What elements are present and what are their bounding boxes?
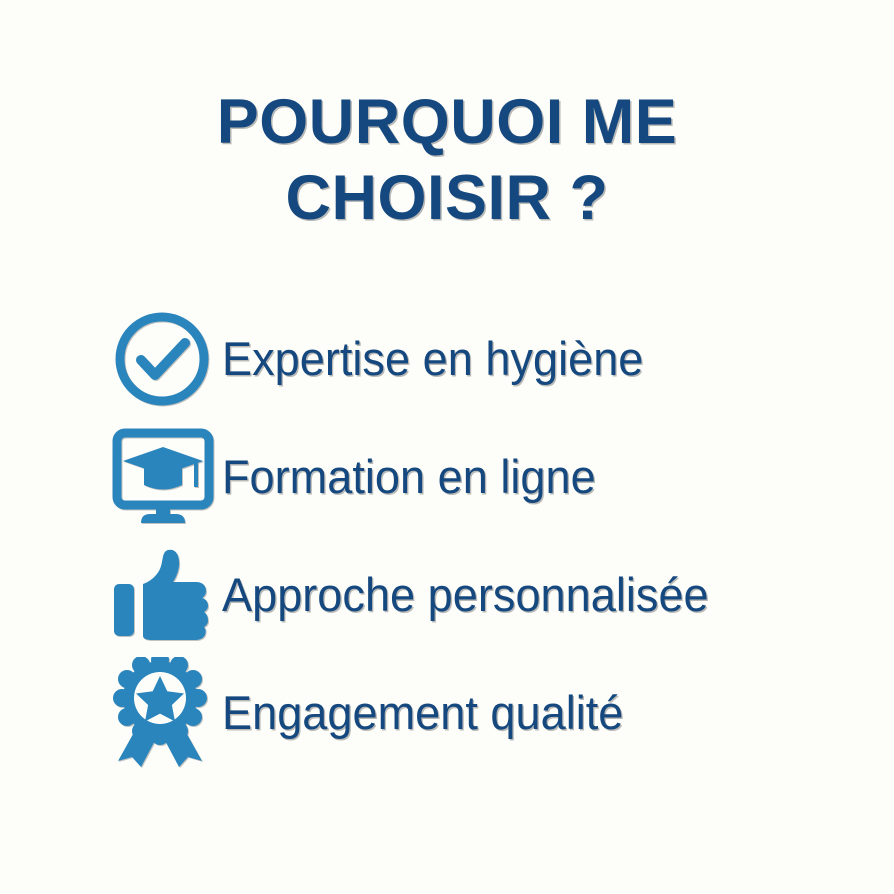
feature-item-expertise: Expertise en hygiène bbox=[100, 300, 860, 418]
feature-label-formation: Formation en ligne bbox=[222, 451, 596, 503]
feature-item-formation: Formation en ligne bbox=[100, 418, 860, 536]
feature-item-engagement: Engagement qualité bbox=[100, 654, 860, 772]
check-circle-icon bbox=[100, 304, 222, 414]
page-title-line-1: POURQUOI ME bbox=[0, 84, 894, 160]
feature-label-engagement: Engagement qualité bbox=[222, 687, 623, 739]
feature-item-approche: Approche personnalisée bbox=[100, 536, 860, 654]
page-title-line-2: CHOISIR ? bbox=[0, 160, 894, 236]
monitor-graduation-cap-icon bbox=[100, 422, 222, 532]
feature-label-expertise: Expertise en hygiène bbox=[222, 333, 643, 385]
award-rosette-icon bbox=[100, 658, 222, 768]
page-title: POURQUOI ME CHOISIR ? bbox=[0, 84, 894, 236]
feature-list: Expertise en hygiène bbox=[100, 300, 860, 772]
why-choose-me-poster: POURQUOI ME CHOISIR ? Expertise en hygiè… bbox=[0, 0, 894, 894]
thumbs-up-icon bbox=[100, 540, 222, 650]
feature-label-approche: Approche personnalisée bbox=[222, 569, 709, 621]
